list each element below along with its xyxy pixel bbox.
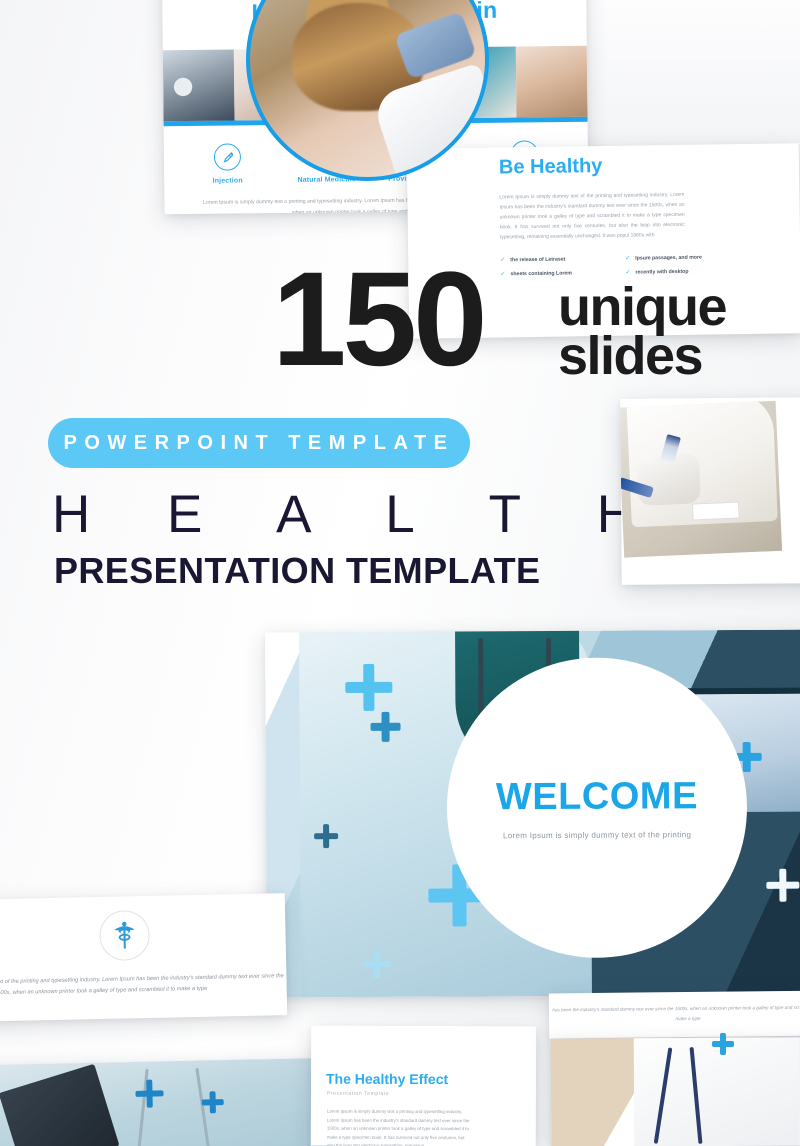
check-icon: ✓ xyxy=(500,257,505,263)
powerpoint-template-badge: POWERPOINT TEMPLATE xyxy=(48,418,470,468)
slide8-body-text: has been the industry's standard dummy t… xyxy=(549,1003,800,1025)
slide7-body-text: Lorem Ipsum is simply dummy text o print… xyxy=(327,1108,472,1146)
page-subtitle: PRESENTATION TEMPLATE xyxy=(54,550,540,592)
slide2-title: Be Healthy xyxy=(499,155,603,179)
quote-author: - Dr. Lorem Ipsum xyxy=(0,1015,287,1023)
check-icon: ✓ xyxy=(500,271,505,277)
welcome-circle: WELCOME Lorem Ipsum is simply dummy text… xyxy=(446,657,748,959)
photo-lab-technician xyxy=(620,401,782,558)
slide1-feature-0[interactable]: Injection xyxy=(178,143,277,185)
slide2-check-label-3: recently with desktop xyxy=(635,269,688,276)
plus-decoration-icon xyxy=(766,869,799,902)
slide1-feature-label-0: Injection xyxy=(178,177,277,185)
quote-text: Lorem Ipsum is simply dummy text of the … xyxy=(0,971,287,1001)
slide2-check-label-0: the release of Letraset xyxy=(510,257,565,264)
plus-decoration-icon xyxy=(314,824,338,848)
photo-doctor-consult xyxy=(163,49,234,121)
slide7-subtitle: Presentation Template xyxy=(327,1091,389,1097)
slide2-body-text: Lorem Ipsum is simply dummy text of the … xyxy=(499,190,685,243)
plus-decoration-icon xyxy=(201,1091,223,1113)
photo-detail-idbadge xyxy=(691,502,739,521)
list-item: ✓ recently with desktop xyxy=(625,268,750,276)
plus-decoration-icon xyxy=(345,664,392,711)
check-icon: ✓ xyxy=(625,256,630,262)
badge-label: POWERPOINT TEMPLATE xyxy=(63,432,454,455)
caption-line-1: unique xyxy=(558,283,726,332)
slide-welcome[interactable]: WELCOME Lorem Ipsum is simply dummy text… xyxy=(265,630,800,998)
slide-count-caption: unique slides xyxy=(558,283,726,380)
photo-detail-laptop xyxy=(0,1064,120,1146)
list-item: ✓ Ipsum passages, and more xyxy=(625,254,750,262)
welcome-subtitle: Lorem Ipsum is simply dummy text of the … xyxy=(503,830,691,840)
template-preview-stage: Let The Healthy Begin Presentation Templ… xyxy=(0,0,800,1146)
caption-line-2: slides xyxy=(558,332,726,381)
photo-pill-hand xyxy=(516,46,587,118)
background-strip xyxy=(585,0,800,150)
slide-lab-icons[interactable] xyxy=(620,397,800,585)
slide-bottom-right-text[interactable]: has been the industry's standard dummy t… xyxy=(549,991,800,1039)
slide7-title: The Healthy Effect xyxy=(326,1071,448,1087)
syringe-icon xyxy=(214,143,241,170)
slide-quote[interactable]: Lorem Ipsum is simply dummy text of the … xyxy=(0,893,287,1023)
slide-bottom-right-photo[interactable] xyxy=(551,1037,800,1146)
plus-decoration-icon xyxy=(370,712,400,742)
plus-decoration-icon xyxy=(135,1079,164,1108)
plus-decoration-icon xyxy=(363,950,391,978)
slide-the-healthy-effect[interactable]: The Healthy Effect Presentation Template… xyxy=(311,1026,536,1146)
slide2-check-label-1: Ipsum passages, and more xyxy=(635,255,702,262)
welcome-title: WELCOME xyxy=(496,775,698,819)
slide-count-number: 150 xyxy=(272,258,484,381)
caduceus-icon xyxy=(99,910,150,961)
page-title: H E A L T H xyxy=(52,484,572,545)
check-icon: ✓ xyxy=(625,270,630,276)
slide-stethoscope-photo[interactable] xyxy=(0,1058,327,1146)
list-item: ✓ the release of Letraset xyxy=(500,256,625,264)
plus-decoration-icon xyxy=(712,1033,734,1055)
